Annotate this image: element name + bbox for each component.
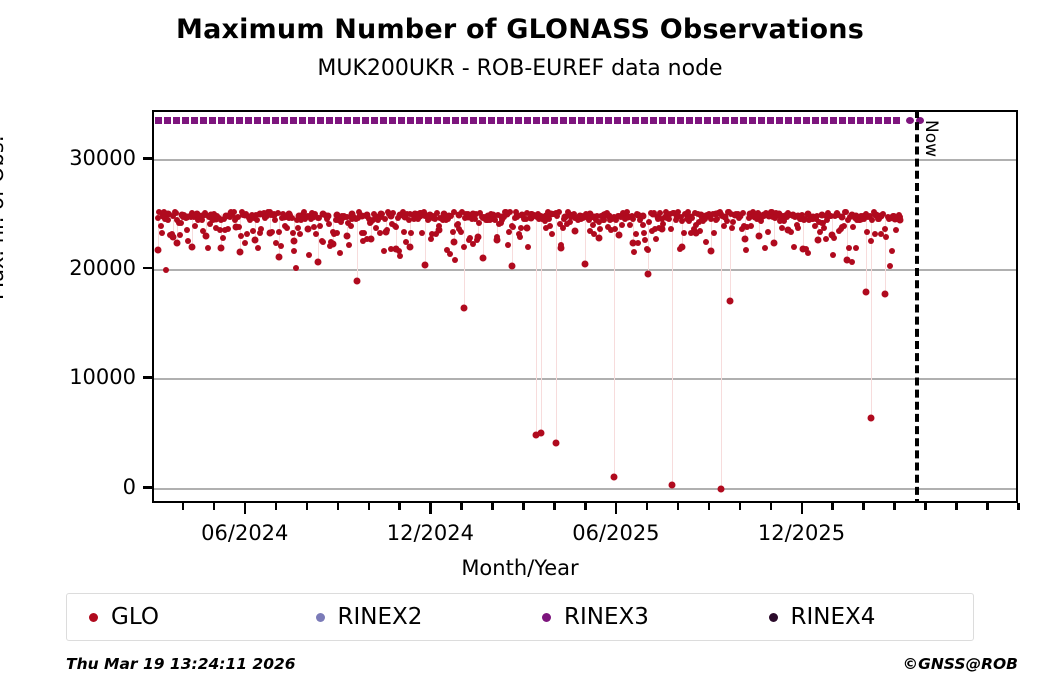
data-point (251, 237, 258, 244)
data-point (597, 226, 603, 232)
data-point (748, 223, 754, 229)
rinex3-availability-band (155, 117, 901, 124)
data-point (633, 231, 639, 237)
data-point (552, 439, 559, 446)
gridline (154, 378, 1016, 380)
x-axis-minor-tick (368, 503, 371, 510)
data-point (428, 236, 434, 242)
legend-label: RINEX2 (338, 604, 423, 630)
data-point (415, 216, 421, 222)
data-point (547, 223, 553, 229)
data-point (184, 227, 190, 233)
data-point (882, 290, 889, 297)
data-point (317, 223, 323, 229)
data-point (765, 229, 771, 235)
data-point (887, 263, 893, 269)
x-axis-minor-tick (770, 503, 773, 510)
data-point (397, 253, 403, 259)
data-point (174, 240, 181, 247)
data-point (403, 239, 409, 245)
data-point (711, 230, 717, 236)
data-point (644, 271, 651, 278)
x-axis-major-tick (801, 503, 804, 514)
data-point (653, 236, 659, 242)
data-point (384, 227, 390, 233)
x-axis-major-tick (615, 503, 618, 514)
data-point (883, 234, 889, 240)
data-point (717, 486, 724, 493)
data-point (225, 226, 231, 232)
data-point (236, 224, 242, 230)
data-point (320, 239, 326, 245)
data-point (770, 240, 777, 247)
stem-line (614, 214, 615, 477)
y-axis-tick-label: 30000 (0, 146, 136, 170)
data-point (334, 230, 340, 236)
data-point (447, 251, 453, 257)
data-point (326, 221, 332, 227)
data-point (642, 237, 648, 243)
data-point (479, 254, 486, 261)
data-point (258, 226, 264, 232)
stem-line (512, 214, 513, 267)
x-axis-major-tick (244, 503, 247, 514)
stem-line (464, 214, 465, 308)
data-point (741, 235, 748, 242)
data-point (382, 216, 388, 222)
x-axis-minor-tick (306, 503, 309, 510)
data-point (353, 277, 360, 284)
stem-line (536, 214, 537, 436)
data-point (821, 225, 827, 231)
x-axis-minor-tick (646, 503, 649, 510)
data-point (669, 481, 676, 488)
x-axis-tick-label: 12/2024 (387, 521, 474, 545)
legend-marker-icon (89, 613, 98, 622)
data-point (295, 225, 301, 231)
x-axis-minor-tick (739, 503, 742, 510)
x-axis-minor-tick (213, 503, 216, 510)
gridline (154, 159, 1016, 161)
plot-canvas: Now (154, 112, 1016, 501)
legend: GLORINEX2RINEX3RINEX4 (66, 593, 974, 641)
data-point (344, 232, 351, 239)
data-point (458, 229, 464, 235)
stem-line (357, 214, 358, 281)
data-point (401, 229, 407, 235)
x-axis-minor-tick (708, 503, 711, 510)
data-point (830, 252, 836, 258)
data-point (867, 414, 874, 421)
data-point (610, 473, 617, 480)
data-point (315, 258, 322, 265)
data-point (635, 240, 641, 246)
data-point (518, 225, 524, 231)
gridline (154, 488, 1016, 490)
data-point (558, 242, 564, 248)
x-axis-minor-tick (831, 503, 834, 510)
y-axis-tick (143, 376, 152, 379)
x-axis-minor-tick (337, 503, 340, 510)
data-point (393, 224, 399, 230)
data-point (165, 217, 171, 223)
footer-timestamp: Thu Mar 19 13:24:11 2026 (66, 655, 296, 673)
now-label: Now (921, 120, 941, 157)
data-point (823, 236, 829, 242)
data-point (849, 259, 855, 265)
x-axis-major-tick (429, 503, 432, 514)
data-point (850, 224, 856, 230)
gridline (154, 269, 1016, 271)
data-point (729, 225, 735, 231)
data-point (525, 244, 531, 250)
data-point (846, 245, 852, 251)
legend-item-rinex4[interactable]: RINEX4 (747, 604, 974, 630)
data-point (169, 231, 175, 237)
legend-label: GLO (111, 604, 159, 630)
data-point (805, 250, 811, 256)
stem-line (871, 214, 872, 418)
data-point (756, 232, 763, 239)
data-point (381, 248, 387, 254)
data-point (640, 222, 646, 228)
data-point (460, 305, 467, 312)
data-point (474, 237, 480, 243)
legend-marker-icon (316, 613, 325, 622)
stem-line (541, 214, 542, 433)
data-point (250, 228, 256, 234)
data-point (677, 246, 683, 252)
data-point (328, 239, 334, 245)
x-axis-minor-tick (275, 503, 278, 510)
y-axis-tick-label: 0 (0, 475, 136, 499)
x-axis-minor-tick (677, 503, 680, 510)
data-point (549, 231, 555, 237)
data-point (433, 231, 439, 237)
data-point (290, 230, 296, 236)
data-point (158, 223, 164, 229)
data-point (254, 217, 260, 223)
data-point (740, 210, 746, 216)
data-point (703, 239, 709, 245)
data-point (155, 215, 161, 221)
data-point (863, 288, 870, 295)
plot-area: Now (152, 110, 1018, 503)
page-title: Maximum Number of GLONASS Observations (0, 14, 1040, 45)
y-axis-tick (143, 157, 152, 160)
y-axis-tick (143, 267, 152, 270)
data-point (269, 229, 275, 235)
data-point (556, 209, 562, 215)
legend-item-rinex3[interactable]: RINEX3 (520, 604, 747, 630)
data-point (631, 249, 637, 255)
x-axis-minor-tick (924, 503, 927, 510)
data-point (630, 216, 636, 222)
data-point (591, 231, 597, 237)
data-point (743, 247, 749, 253)
data-point (284, 225, 290, 231)
data-point (645, 247, 651, 253)
data-point (419, 230, 425, 236)
legend-marker-icon (542, 613, 551, 622)
data-point (864, 229, 870, 235)
data-point (831, 235, 837, 241)
data-point (788, 229, 794, 235)
data-point (791, 244, 797, 250)
data-point (276, 253, 283, 260)
data-point (452, 257, 458, 263)
data-point (159, 230, 165, 236)
data-point (641, 230, 647, 236)
data-point (509, 263, 516, 270)
data-point (436, 223, 442, 229)
data-point (581, 261, 588, 268)
data-point (450, 239, 457, 246)
data-point (494, 234, 500, 240)
data-point (276, 229, 282, 235)
now-line (915, 112, 919, 501)
data-point (660, 221, 666, 227)
data-point (646, 219, 652, 225)
data-point (724, 218, 730, 224)
data-point (841, 223, 847, 229)
data-point (337, 250, 343, 256)
data-point (185, 238, 191, 244)
data-point (388, 246, 394, 252)
data-point (377, 230, 383, 236)
data-point (178, 220, 184, 226)
y-axis-tick-label: 20000 (0, 256, 136, 280)
data-point (450, 229, 456, 235)
data-point (505, 242, 511, 248)
data-point (868, 238, 874, 244)
data-point (237, 249, 244, 256)
legend-label: RINEX4 (791, 604, 876, 630)
data-point (627, 222, 633, 228)
y-axis-label: Max. nr. of Obs. (0, 135, 8, 300)
data-point (407, 243, 414, 250)
data-point (451, 209, 457, 215)
data-point (619, 222, 625, 228)
data-point (297, 231, 303, 237)
data-point (572, 228, 579, 235)
x-axis-minor-tick (862, 503, 865, 510)
data-point (897, 214, 903, 220)
data-point (173, 210, 179, 216)
data-point (779, 225, 785, 231)
x-axis-tick-label: 06/2024 (201, 521, 288, 545)
y-axis-tick-label: 10000 (0, 365, 136, 389)
x-axis-label: Month/Year (0, 556, 1040, 580)
x-axis-minor-tick (460, 503, 463, 510)
stem-line (866, 214, 867, 292)
data-point (163, 267, 169, 273)
data-point (188, 243, 195, 250)
data-point (192, 223, 198, 229)
footer-copyright: ©GNSS@ROB (903, 655, 1018, 673)
data-point (313, 231, 319, 237)
legend-item-rinex2[interactable]: RINEX2 (294, 604, 521, 630)
data-point (795, 225, 801, 231)
data-point (306, 252, 312, 258)
data-point (290, 238, 297, 245)
data-point (638, 214, 644, 220)
y-axis-tick (143, 486, 152, 489)
x-axis-minor-tick (986, 503, 989, 510)
data-point (882, 226, 888, 232)
data-point (461, 244, 467, 250)
data-point (220, 235, 226, 241)
data-point (272, 217, 278, 223)
legend-marker-icon (769, 613, 778, 622)
data-point (762, 245, 768, 251)
data-point (853, 245, 859, 251)
x-axis-minor-tick (398, 503, 401, 510)
data-point (506, 229, 512, 235)
data-point (205, 245, 211, 251)
data-point (697, 228, 703, 234)
x-axis-minor-tick (553, 503, 556, 510)
data-point (727, 298, 734, 305)
data-point (567, 219, 573, 225)
data-point (308, 216, 314, 222)
data-point (408, 230, 414, 236)
data-point (510, 224, 516, 230)
data-point (346, 242, 352, 248)
x-axis-minor-tick (182, 503, 185, 510)
data-point (293, 265, 299, 271)
x-axis-minor-tick (955, 503, 958, 510)
data-point (155, 246, 162, 253)
data-point (538, 430, 545, 437)
data-point (278, 243, 284, 249)
page-subtitle: MUK200UKR - ROB-EUREF data node (0, 56, 1040, 81)
x-axis-minor-tick (522, 503, 525, 510)
data-point (311, 224, 317, 230)
data-point (612, 226, 618, 232)
legend-label: RINEX3 (564, 604, 649, 630)
x-axis-minor-tick (893, 503, 896, 510)
data-point (291, 248, 297, 254)
data-point (835, 212, 841, 218)
data-point (615, 231, 622, 238)
data-point (681, 230, 687, 236)
x-axis-minor-tick (584, 503, 587, 510)
data-point (893, 227, 899, 233)
x-axis-tick-label: 12/2025 (758, 521, 845, 545)
rinex3-marker (906, 117, 914, 124)
data-point (604, 210, 610, 216)
data-point (238, 233, 244, 239)
data-point (255, 245, 261, 251)
data-point (889, 248, 895, 254)
data-point (364, 236, 370, 242)
data-point (348, 223, 354, 229)
x-axis-minor-tick (1017, 503, 1020, 510)
data-point (218, 244, 225, 251)
data-point (517, 234, 523, 240)
legend-item-glo[interactable]: GLO (67, 604, 294, 630)
stem-line (672, 214, 673, 485)
stem-line (721, 214, 722, 489)
data-point (812, 223, 818, 229)
data-point (242, 240, 248, 246)
data-point (668, 226, 674, 232)
data-point (707, 248, 714, 255)
data-point (421, 262, 428, 269)
chart-page: Maximum Number of GLONASS Observations M… (0, 0, 1040, 699)
data-point (177, 232, 183, 238)
x-axis-minor-tick (491, 503, 494, 510)
data-point (200, 228, 206, 234)
x-axis-tick-label: 06/2025 (572, 521, 659, 545)
data-point (814, 237, 821, 244)
